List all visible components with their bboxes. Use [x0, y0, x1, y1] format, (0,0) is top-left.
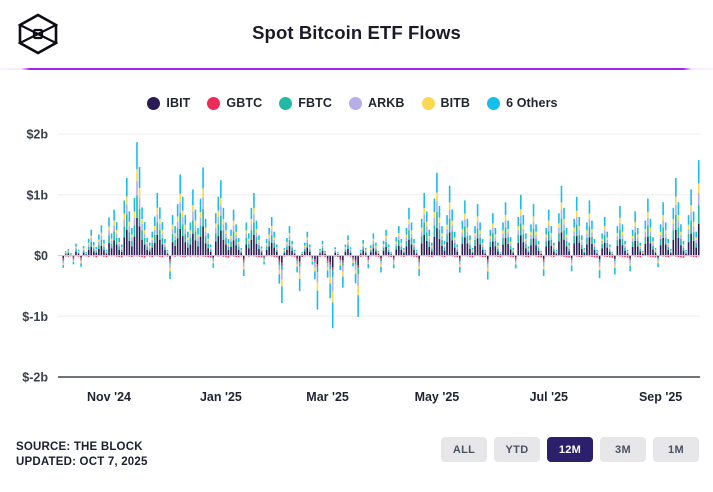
bar-segment	[113, 210, 115, 221]
bar-segment	[121, 250, 123, 252]
bar-segment	[693, 232, 695, 241]
bar-segment	[556, 253, 558, 254]
bar-segment	[90, 236, 92, 239]
bar-segment	[479, 245, 481, 256]
bar-segment	[340, 258, 342, 260]
bar-segment	[322, 244, 324, 246]
bar-segment	[398, 240, 400, 246]
bar-segment	[683, 246, 685, 248]
bar-segment	[164, 250, 166, 255]
bar-segment	[385, 239, 387, 242]
bar-segment	[655, 248, 657, 250]
bar-segment	[151, 248, 153, 256]
range-button-1m[interactable]: 1M	[653, 437, 699, 462]
bar-segment	[431, 246, 433, 247]
chart-card: Spot Bitcoin ETF Flows IBITGBTCFBTCARKBB…	[0, 0, 713, 492]
bar-segment	[584, 250, 586, 251]
bar-segment	[172, 229, 174, 234]
bar-segment	[149, 249, 151, 252]
bar-segment	[667, 243, 669, 245]
bar-segment	[563, 208, 565, 219]
header-divider	[0, 68, 713, 70]
bar-segment	[73, 259, 75, 260]
bar-segment	[136, 181, 138, 196]
bar-segment	[134, 218, 136, 225]
bar-segment	[418, 263, 420, 267]
bar-segment	[556, 250, 558, 251]
bar-segment	[520, 235, 522, 255]
bar-segment	[464, 200, 466, 213]
bar-segment	[434, 212, 436, 218]
bar-segment	[418, 259, 420, 261]
bar-segment	[261, 246, 263, 248]
bar-segment	[235, 232, 237, 235]
bar-segment	[88, 243, 90, 245]
bar-segment	[268, 246, 270, 255]
bar-segment	[350, 247, 352, 249]
bar-segment	[126, 204, 128, 214]
bar-segment	[523, 234, 525, 242]
bar-segment	[446, 234, 448, 242]
bar-segment	[195, 210, 197, 221]
bar-segment	[317, 256, 319, 265]
legend-item-arkb[interactable]: ARKB	[349, 96, 405, 110]
bar-segment	[416, 253, 418, 254]
bar-segment	[395, 237, 397, 241]
bar-segment	[151, 243, 153, 248]
bar-segment	[98, 240, 100, 242]
bar-segment	[589, 200, 591, 213]
bar-segment	[238, 244, 240, 246]
bar-segment	[134, 198, 136, 212]
bar-segment	[101, 236, 103, 240]
bar-segment	[223, 208, 225, 219]
bar-segment	[294, 250, 296, 251]
bar-segment	[462, 221, 464, 229]
bar-segment	[360, 253, 362, 254]
bar-segment	[388, 250, 390, 252]
bar-segment	[695, 248, 697, 256]
bar-segment	[436, 212, 438, 228]
bar-segment	[571, 258, 573, 259]
bar-segment	[467, 236, 469, 243]
bar-segment	[553, 246, 555, 247]
bar-segment	[357, 268, 359, 274]
bar-segment	[604, 217, 606, 226]
bar-segment	[101, 246, 103, 256]
bar-segment	[690, 189, 692, 205]
bar-segment	[401, 247, 403, 250]
bar-segment	[370, 250, 372, 252]
bar-segment	[507, 233, 509, 238]
bar-segment	[426, 232, 428, 241]
bar-segment	[413, 243, 415, 245]
bar-segment	[98, 235, 100, 240]
bar-segment	[604, 226, 606, 230]
bar-segment	[495, 235, 497, 238]
bar-segment	[129, 211, 131, 222]
bar-segment	[375, 249, 377, 252]
bar-segment	[253, 214, 255, 222]
bar-segment	[291, 241, 293, 245]
updated-label: UPDATED: OCT 7, 2025	[16, 455, 148, 470]
bar-segment	[233, 225, 235, 231]
bar-segment	[103, 250, 105, 255]
bar-segment	[540, 252, 542, 253]
bar-segment	[408, 224, 410, 230]
bar-segment	[685, 251, 687, 252]
bar-segment	[106, 252, 108, 253]
bar-segment	[553, 247, 555, 249]
bar-segment	[484, 253, 486, 254]
bar-segment	[698, 205, 700, 224]
bar-segment	[667, 245, 669, 247]
bar-segment	[584, 248, 586, 250]
bar-segment	[426, 226, 428, 232]
bar-segment	[291, 244, 293, 246]
bar-segment	[327, 259, 329, 261]
legend-item-ibit[interactable]: IBIT	[147, 96, 190, 110]
bar-segment	[291, 246, 293, 248]
bar-segment	[253, 208, 255, 214]
bar-segment	[309, 250, 311, 252]
bar-segment	[413, 247, 415, 250]
bar-segment	[116, 245, 118, 256]
bar-segment	[632, 230, 634, 236]
bar-segment	[154, 226, 156, 230]
bar-segment	[464, 226, 466, 237]
bar-segment	[690, 221, 692, 234]
bar-segment	[136, 169, 138, 181]
bar-segment	[601, 248, 603, 255]
bar-segment	[469, 240, 471, 242]
bar-segment	[306, 243, 308, 248]
bar-segment	[652, 237, 654, 241]
legend-item-6-others[interactable]: 6 Others	[487, 96, 558, 110]
bar-segment	[123, 219, 125, 226]
bar-segment	[141, 240, 143, 256]
bar-segment	[378, 253, 380, 254]
bar-segment	[497, 243, 499, 246]
bar-segment	[456, 245, 458, 248]
bar-segment	[578, 243, 580, 256]
bar-segment	[304, 243, 306, 246]
bar-segment	[535, 239, 537, 245]
page-title: Spot Bitcoin ETF Flows	[0, 22, 713, 44]
bar-segment	[411, 245, 413, 256]
bar-segment	[573, 219, 575, 228]
bar-segment	[212, 257, 214, 258]
bar-segment	[423, 193, 425, 208]
bar-segment	[538, 251, 540, 256]
bar-segment	[85, 253, 87, 254]
bar-segment	[299, 263, 301, 267]
bar-segment	[406, 235, 408, 238]
bar-segment	[309, 247, 311, 248]
bar-segment	[517, 243, 519, 256]
bar-segment	[395, 243, 397, 245]
bar-segment	[520, 209, 522, 215]
bar-segment	[634, 241, 636, 256]
bar-segment	[568, 251, 570, 255]
bar-segment	[256, 244, 258, 256]
bar-segment	[365, 250, 367, 251]
bar-segment	[411, 222, 413, 230]
bar-segment	[266, 247, 268, 250]
bar-segment	[629, 260, 631, 263]
bar-segment	[306, 237, 308, 239]
bar-segment	[355, 262, 357, 265]
bar-segment	[149, 246, 151, 247]
bar-segment	[235, 235, 237, 239]
bar-segment	[225, 230, 227, 233]
bar-segment	[444, 248, 446, 251]
bar-segment	[650, 219, 652, 228]
bar-segment	[347, 240, 349, 242]
bar-segment	[184, 229, 186, 234]
bar-segment	[576, 211, 578, 217]
bar-segment	[296, 261, 298, 264]
bar-segment	[667, 250, 669, 255]
bar-segment	[116, 222, 118, 230]
x-axis-tick-label: Jul '25	[530, 390, 568, 404]
bar-segment	[98, 242, 100, 245]
bar-segment	[678, 238, 680, 256]
bar-segment	[675, 215, 677, 230]
bar-segment	[657, 263, 659, 267]
bar-segment	[370, 248, 372, 249]
bar-segment	[279, 260, 281, 262]
bar-segment	[70, 254, 72, 255]
bar-segment	[507, 237, 509, 244]
bar-segment	[639, 246, 641, 247]
bar-segment	[291, 248, 293, 251]
bar-segment	[108, 235, 110, 243]
bar-segment	[561, 210, 563, 219]
bar-segment	[149, 247, 151, 249]
bar-segment	[329, 262, 331, 264]
bar-segment	[365, 248, 367, 250]
bar-segment	[182, 224, 184, 236]
bar-segment	[276, 247, 278, 248]
bar-segment	[553, 243, 555, 246]
bar-segment	[647, 225, 649, 236]
bar-segment	[563, 240, 565, 256]
bar-segment	[645, 237, 647, 244]
bar-segment	[525, 248, 527, 255]
bar-segment	[434, 237, 436, 256]
x-axis-tick-label: Sep '25	[639, 390, 682, 404]
bar-segment	[228, 250, 230, 255]
bar-segment	[256, 233, 258, 238]
bar-segment	[490, 230, 492, 236]
bar-segment	[350, 251, 352, 253]
bar-segment	[357, 286, 359, 295]
bar-segment	[652, 243, 654, 245]
bar-segment	[591, 221, 593, 229]
bar-segment	[360, 251, 362, 252]
bar-segment	[139, 167, 141, 188]
bar-segment	[159, 207, 161, 219]
bar-segment	[169, 264, 171, 268]
range-button-all[interactable]: ALL	[441, 437, 487, 462]
bar-segment	[162, 238, 164, 245]
legend-item-bitb[interactable]: BITB	[422, 96, 471, 110]
range-selector[interactable]: ALLYTD12M3M1M	[441, 437, 699, 462]
bar-segment	[281, 270, 283, 279]
bar-segment	[131, 237, 133, 241]
bar-segment	[202, 197, 204, 208]
bar-segment	[601, 244, 603, 248]
bar-segment	[678, 215, 680, 220]
bar-segment	[502, 222, 504, 230]
bar-segment	[530, 232, 532, 235]
bar-segment	[639, 247, 641, 249]
bar-segment	[146, 250, 148, 256]
bar-segment	[123, 214, 125, 220]
bar-segment	[324, 251, 326, 252]
bar-segment	[327, 261, 329, 263]
bar-segment	[561, 232, 563, 255]
bar-segment	[83, 248, 85, 249]
bar-segment	[299, 273, 301, 278]
bar-segment	[454, 232, 456, 238]
bar-segment	[123, 237, 125, 255]
bar-segment	[652, 246, 654, 250]
bar-segment	[126, 178, 128, 197]
legend-item-fbtc[interactable]: FBTC	[279, 96, 332, 110]
bar-segment	[556, 251, 558, 252]
legend-item-gbtc[interactable]: GBTC	[207, 96, 262, 110]
bar-segment	[510, 243, 512, 245]
bar-segment	[495, 246, 497, 255]
bar-segment	[103, 243, 105, 245]
bar-segment	[464, 237, 466, 255]
bar-segment	[141, 224, 143, 230]
bar-segment	[421, 236, 423, 243]
bar-segment	[306, 248, 308, 256]
bar-segment	[182, 211, 184, 217]
bar-segment	[332, 291, 334, 302]
bar-segment	[202, 188, 204, 197]
bar-segment	[355, 265, 357, 270]
bar-segment	[517, 235, 519, 243]
bar-segment	[174, 233, 176, 236]
bar-segment	[545, 241, 547, 246]
bar-segment	[612, 253, 614, 254]
bar-segment	[235, 224, 237, 231]
bar-segment	[449, 219, 451, 233]
bar-segment	[73, 261, 75, 262]
bar-segment	[551, 226, 553, 233]
bar-segment	[248, 239, 250, 241]
bar-segment	[157, 208, 159, 214]
bar-segment	[693, 241, 695, 256]
bar-segment	[617, 240, 619, 246]
bar-segment	[479, 222, 481, 230]
bar-segment	[85, 252, 87, 253]
bar-segment	[195, 221, 197, 226]
bar-segment	[517, 217, 519, 226]
bar-segment	[647, 237, 649, 256]
bar-segment	[164, 245, 166, 247]
range-button-ytd[interactable]: YTD	[494, 437, 540, 462]
legend-item-label: ARKB	[368, 96, 405, 110]
bar-segment	[678, 227, 680, 238]
bar-segment	[665, 230, 667, 233]
bar-segment	[642, 251, 644, 252]
bar-segment	[103, 247, 105, 250]
bar-segment	[652, 242, 654, 244]
range-button-3m[interactable]: 3M	[600, 437, 646, 462]
bar-segment	[619, 223, 621, 229]
bar-series-group	[62, 142, 699, 328]
bar-segment	[558, 223, 560, 227]
bar-segment	[678, 202, 680, 215]
legend-item-label: GBTC	[226, 96, 262, 110]
bar-segment	[319, 251, 321, 252]
bar-segment	[167, 251, 169, 252]
bar-segment	[472, 251, 474, 252]
bar-segment	[675, 197, 677, 205]
bar-segment	[281, 266, 283, 271]
bar-segment	[367, 259, 369, 260]
bar-segment	[248, 241, 250, 244]
bar-segment	[134, 212, 136, 218]
bar-segment	[515, 260, 517, 262]
bar-segment	[149, 251, 151, 255]
bar-segment	[497, 251, 499, 255]
bar-segment	[258, 242, 260, 245]
bar-segment	[439, 218, 441, 223]
bar-segment	[401, 250, 403, 255]
bar-segment	[548, 210, 550, 221]
bar-segment	[698, 183, 700, 193]
bar-segment	[123, 226, 125, 237]
bar-segment	[566, 241, 568, 246]
bar-segment	[510, 249, 512, 255]
bar-segment	[88, 245, 90, 247]
bar-segment	[230, 236, 232, 239]
bar-segment	[324, 252, 326, 253]
bar-segment	[357, 295, 359, 317]
bar-segment	[655, 251, 657, 252]
bar-segment	[462, 229, 464, 233]
bar-segment	[698, 193, 700, 205]
bar-segment	[121, 252, 123, 256]
bar-segment	[484, 252, 486, 253]
bar-segment	[408, 208, 410, 219]
bar-segment	[205, 236, 207, 243]
bar-segment	[487, 261, 489, 263]
bar-segment	[245, 230, 247, 233]
bar-segment	[614, 259, 616, 260]
bar-segment	[403, 248, 405, 250]
bar-segment	[393, 257, 395, 259]
range-button-12m[interactable]: 12M	[547, 437, 593, 462]
bar-segment	[347, 242, 349, 245]
bar-segment	[159, 230, 161, 240]
bar-segment	[482, 250, 484, 255]
bar-segment	[373, 248, 375, 255]
bar-segment	[474, 246, 476, 256]
bar-segment	[164, 243, 166, 245]
bar-segment	[370, 252, 372, 255]
bar-segment	[373, 244, 375, 248]
bar-segment	[220, 216, 222, 231]
bar-segment	[416, 251, 418, 252]
bar-segment	[690, 205, 692, 212]
